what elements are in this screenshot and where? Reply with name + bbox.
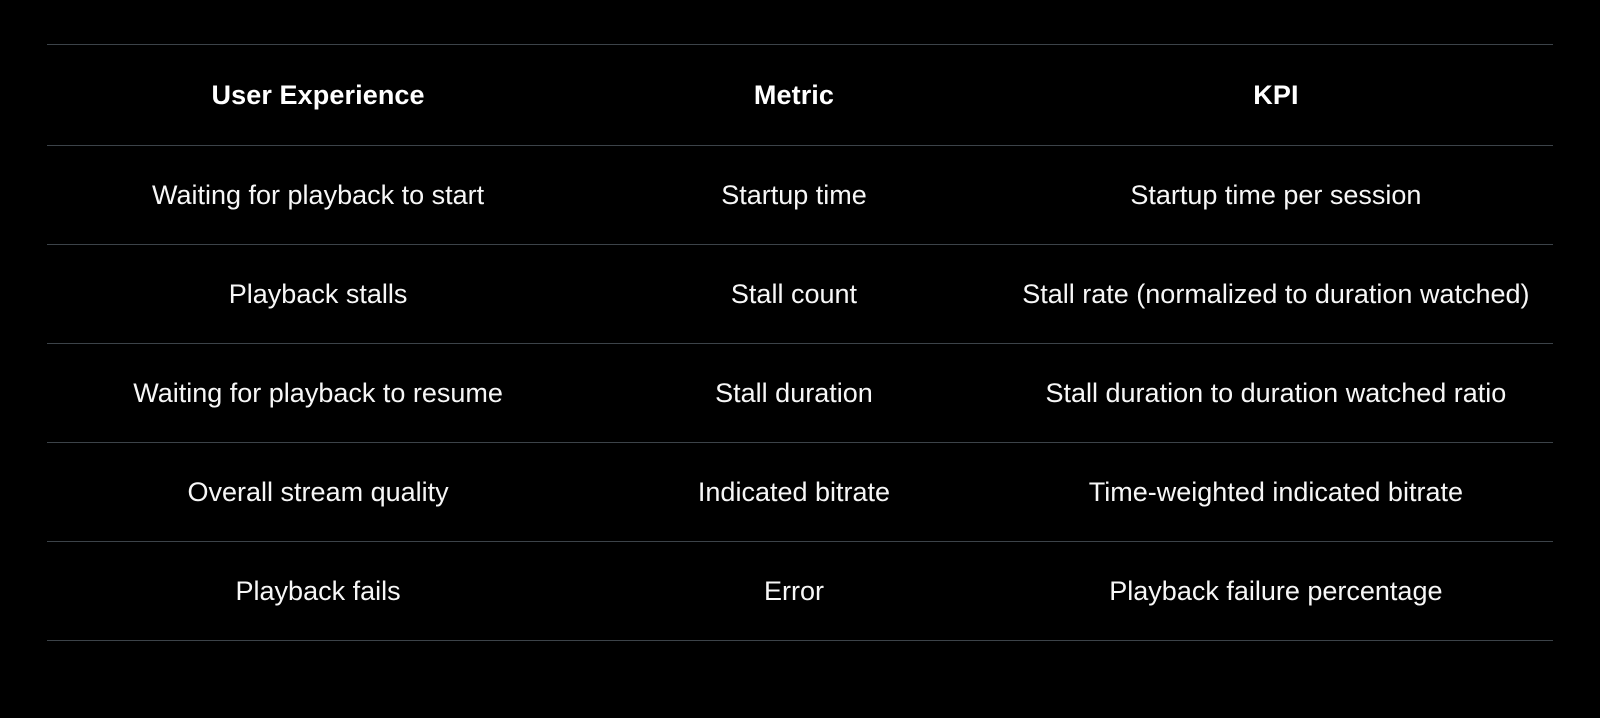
cell-user-experience: Playback stalls (47, 245, 589, 344)
table-row: Playback stalls Stall count Stall rate (… (47, 245, 1553, 344)
cell-user-experience: Overall stream quality (47, 443, 589, 542)
table-row: Overall stream quality Indicated bitrate… (47, 443, 1553, 542)
cell-user-experience: Waiting for playback to resume (47, 344, 589, 443)
cell-kpi: Stall rate (normalized to duration watch… (999, 245, 1553, 344)
cell-metric: Startup time (589, 146, 999, 245)
cell-kpi: Playback failure percentage (999, 542, 1553, 641)
cell-metric: Indicated bitrate (589, 443, 999, 542)
cell-metric: Stall count (589, 245, 999, 344)
table-body: Waiting for playback to start Startup ti… (47, 146, 1553, 641)
page-root: User Experience Metric KPI Waiting for p… (0, 0, 1600, 718)
cell-user-experience: Playback fails (47, 542, 589, 641)
metrics-table-container: User Experience Metric KPI Waiting for p… (47, 44, 1553, 641)
cell-metric: Error (589, 542, 999, 641)
cell-kpi: Time-weighted indicated bitrate (999, 443, 1553, 542)
table-row: Waiting for playback to resume Stall dur… (47, 344, 1553, 443)
table-row: Waiting for playback to start Startup ti… (47, 146, 1553, 245)
qoe-metrics-table: User Experience Metric KPI Waiting for p… (47, 44, 1553, 641)
column-header-metric: Metric (589, 45, 999, 146)
cell-kpi: Startup time per session (999, 146, 1553, 245)
column-header-kpi: KPI (999, 45, 1553, 146)
cell-kpi: Stall duration to duration watched ratio (999, 344, 1553, 443)
cell-user-experience: Waiting for playback to start (47, 146, 589, 245)
table-header-row: User Experience Metric KPI (47, 45, 1553, 146)
table-header: User Experience Metric KPI (47, 45, 1553, 146)
cell-metric: Stall duration (589, 344, 999, 443)
column-header-user-experience: User Experience (47, 45, 589, 146)
table-row: Playback fails Error Playback failure pe… (47, 542, 1553, 641)
